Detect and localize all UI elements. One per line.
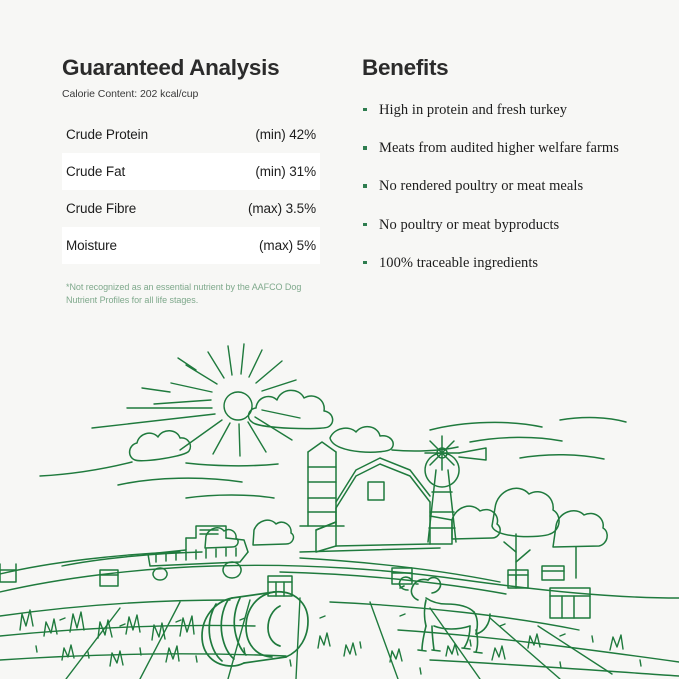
benefit-text: 100% traceable ingredients: [379, 255, 538, 271]
benefit-text: No rendered poultry or meat meals: [379, 178, 583, 194]
list-item: No poultry or meat byproducts: [362, 216, 624, 235]
list-item: High in protein and fresh turkey: [362, 101, 624, 120]
table-row: Crude Protein (min) 42%: [62, 116, 320, 153]
nutrient-name: Moisture: [66, 238, 117, 253]
benefit-text: No poultry or meat byproducts: [379, 217, 559, 233]
benefit-text: High in protein and fresh turkey: [379, 102, 567, 118]
nutrient-value: (min) 42%: [255, 127, 316, 142]
table-row: Crude Fibre (max) 3.5%: [62, 190, 320, 227]
benefits-section: Benefits High in protein and fresh turke…: [362, 56, 624, 292]
product-info-panel: Guaranteed Analysis Calorie Content: 202…: [0, 0, 679, 679]
square-bullet-icon: [363, 184, 367, 188]
farm-scene-line-art: [0, 330, 679, 679]
nutrient-name: Crude Fibre: [66, 201, 136, 216]
list-item: Meats from audited higher welfare farms: [362, 139, 624, 158]
benefits-title: Benefits: [362, 56, 624, 81]
nutrient-name: Crude Fat: [66, 164, 125, 179]
nutrient-table: Crude Protein (min) 42% Crude Fat (min) …: [62, 116, 320, 264]
nutrient-value: (min) 31%: [255, 164, 316, 179]
square-bullet-icon: [363, 261, 367, 265]
table-row: Moisture (max) 5%: [62, 227, 320, 264]
nutrient-value: (max) 5%: [259, 238, 316, 253]
aafco-footnote: *Not recognized as an essential nutrient…: [62, 281, 320, 307]
guaranteed-analysis-section: Guaranteed Analysis Calorie Content: 202…: [62, 56, 320, 306]
nutrient-value: (max) 3.5%: [248, 201, 316, 216]
square-bullet-icon: [363, 108, 367, 112]
guaranteed-analysis-title: Guaranteed Analysis: [62, 56, 320, 81]
rolling-fields: [0, 552, 679, 679]
table-row: Crude Fat (min) 31%: [62, 153, 320, 190]
nutrient-name: Crude Protein: [66, 127, 148, 142]
square-bullet-icon: [363, 223, 367, 227]
sun-with-rays: [92, 344, 300, 456]
text-content-area: Guaranteed Analysis Calorie Content: 202…: [0, 0, 679, 330]
calorie-content-text: Calorie Content: 202 kcal/cup: [62, 88, 320, 100]
list-item: No rendered poultry or meat meals: [362, 177, 624, 196]
benefits-list: High in protein and fresh turkey Meats f…: [362, 101, 624, 273]
list-item: 100% traceable ingredients: [362, 254, 624, 273]
benefit-text: Meats from audited higher welfare farms: [379, 140, 619, 156]
windmill: [425, 436, 486, 542]
grass-tufts: [20, 610, 641, 674]
square-bullet-icon: [363, 146, 367, 150]
silo: [300, 442, 344, 526]
